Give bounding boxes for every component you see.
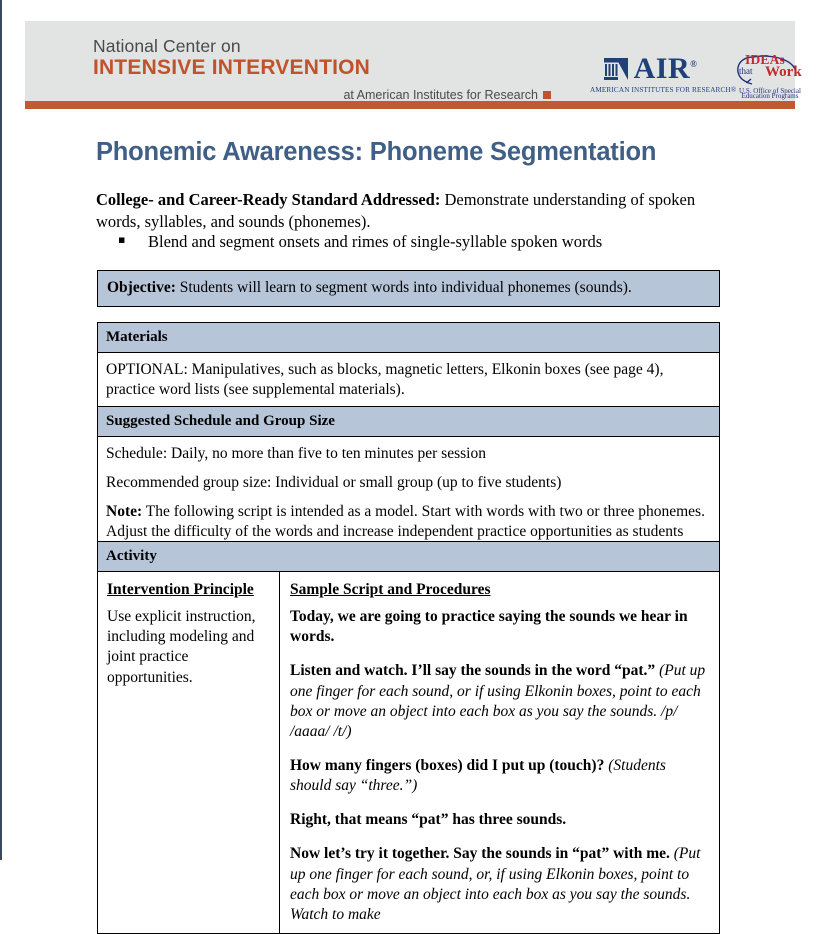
materials-body: OPTIONAL: Manipulatives, such as blocks,… [98,353,719,408]
script-paragraph-bold: Listen and watch. I’ll say the sounds in… [290,662,659,679]
air-registered-mark: ® [690,59,697,69]
org-line-intensive-intervention: INTENSIVE INTERVENTION [93,56,553,80]
script-paragraph: Today, we are going to practice saying t… [290,607,709,647]
objective-content: Objective: Students will learn to segmen… [98,271,719,306]
standard-bullet-item: ▪ Blend and segment onsets and rimes of … [118,232,718,252]
air-tagline: AMERICAN INSTITUTES FOR RESEARCH® [590,86,710,94]
script-paragraph: Right, that means “pat” has three sounds… [290,810,709,830]
organization-name-block: National Center on INTENSIVE INTERVENTIO… [93,37,553,102]
square-bullet-icon: ▪ [118,232,148,249]
standard-bullet-text: Blend and segment onsets and rimes of si… [148,232,602,252]
air-wordmark-text: AIR [634,52,691,85]
standard-paragraph: College- and Career-Ready Standard Addre… [96,189,696,233]
intervention-principle-cell: Intervention Principle Use explicit inst… [98,572,280,933]
orange-square-icon [543,91,551,99]
objective-box: Objective: Students will learn to segmen… [97,270,720,307]
org-line-national-center: National Center on [93,37,553,55]
air-logo-row: AIR® [590,54,710,84]
air-wordmark: AIR® [634,54,698,84]
schedule-header: Suggested Schedule and Group Size [98,407,719,437]
air-building-icon [603,56,630,83]
script-paragraph-bold: How many fingers (boxes) did I put up (t… [290,757,608,774]
standard-label: College- and Career-Ready Standard Addre… [96,190,440,209]
sample-script-paragraphs: Today, we are going to practice saying t… [290,607,709,925]
activity-header: Activity [98,542,719,572]
intervention-principle-heading: Intervention Principle [107,580,270,600]
ideas-that-word: that [739,66,753,76]
page-left-rule [0,0,2,860]
script-paragraph: How many fingers (boxes) did I put up (t… [290,756,709,796]
sample-script-cell: Sample Script and Procedures Today, we a… [280,572,719,933]
ideas-work-word: Work [765,64,802,81]
activity-two-column-row: Intervention Principle Use explicit inst… [98,572,719,933]
schedule-note-label: Note: [106,503,142,520]
org-line-affiliation: at American Institutes for Research [93,88,553,102]
materials-header: Materials [98,323,719,353]
script-paragraph: Listen and watch. I’ll say the sounds in… [290,661,709,742]
schedule-line-1: Schedule: Daily, no more than five to te… [106,444,711,464]
script-paragraph-bold: Right, that means “pat” has three sounds… [290,811,566,828]
objective-text: Students will learn to segment words int… [176,279,632,296]
ideas-badge: IDEAs that Work [725,49,815,91]
script-paragraph-bold: Today, we are going to practice saying t… [290,608,688,645]
objective-label: Objective: [107,279,176,296]
ideas-that-work-logo: IDEAs that Work U.S. Office of Special E… [725,49,815,101]
materials-table: Materials OPTIONAL: Manipulatives, such … [97,322,720,409]
masthead-banner: National Center on INTENSIVE INTERVENTIO… [25,21,795,101]
masthead-orange-rule [25,101,795,109]
script-paragraph: Now let’s try it together. Say the sound… [290,844,709,925]
intervention-principle-body: Use explicit instruction, including mode… [107,607,270,688]
air-logo: AIR® AMERICAN INSTITUTES FOR RESEARCH® [590,54,710,94]
sample-script-heading: Sample Script and Procedures [290,580,709,600]
affiliation-text: at American Institutes for Research [343,88,538,102]
schedule-line-2: Recommended group size: Individual or sm… [106,473,711,493]
activity-table: Activity Intervention Principle Use expl… [97,541,720,934]
page-title: Phonemic Awareness: Phoneme Segmentation [96,138,736,167]
